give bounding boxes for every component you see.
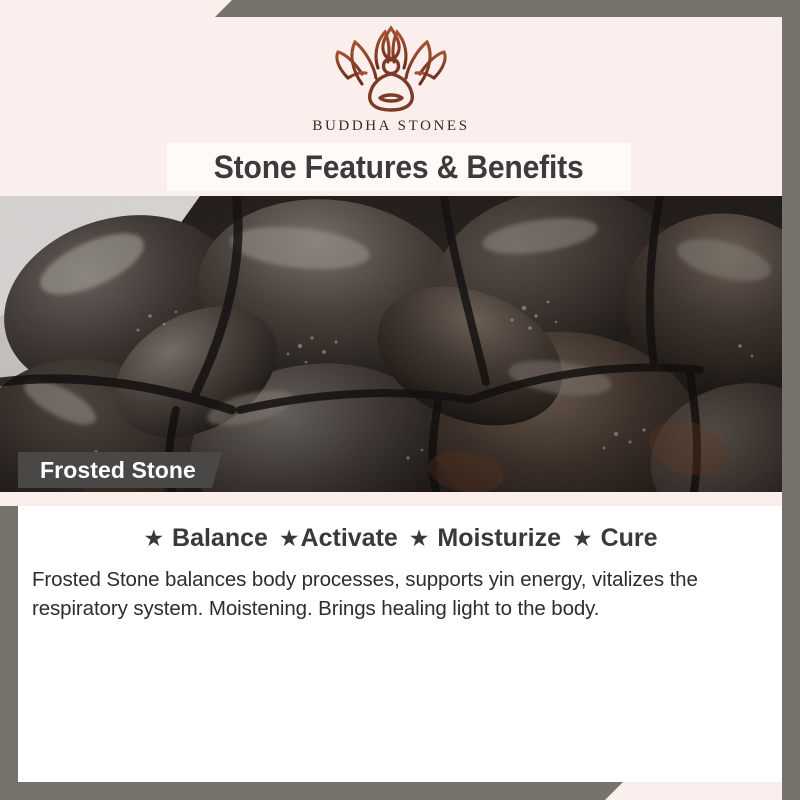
benefit-label: Balance (172, 524, 268, 552)
brand-header: BUDDHA STONES (0, 22, 782, 135)
brand-name: BUDDHA STONES (0, 118, 782, 135)
star-icon: ★ (279, 525, 300, 551)
star-icon: ★ (572, 525, 593, 551)
page-title: Stone Features & Benefits (214, 149, 584, 186)
product-infographic: BUDDHA STONES (0, 0, 800, 800)
page-title-banner: Stone Features & Benefits (167, 143, 631, 191)
benefit-label: Moisturize (437, 524, 561, 552)
frame-right-bar (782, 0, 800, 800)
benefit-item: ★ Balance (142, 524, 277, 552)
product-photo (0, 196, 782, 492)
lotus-meditation-icon (316, 22, 466, 114)
cream-divider (0, 492, 782, 506)
benefit-item: ★ Moisturize (408, 524, 571, 552)
content-section: ★ Balance★Activate★ Moisturize★ Cure Fro… (18, 492, 782, 623)
frame-top-bar (215, 0, 800, 17)
frame-left-bar (0, 490, 18, 800)
star-icon: ★ (409, 525, 430, 551)
product-description: Frosted Stone balances body processes, s… (32, 565, 768, 623)
benefit-item: ★Activate (278, 524, 408, 552)
benefit-label: Activate (301, 524, 398, 552)
product-name-badge: Frosted Stone (18, 452, 222, 488)
star-icon: ★ (143, 525, 164, 551)
benefit-item: ★ Cure (571, 524, 658, 552)
frosted-stone-image (0, 196, 782, 492)
cream-bottom-right-strip (605, 782, 782, 800)
frame-bottom-bar (0, 782, 623, 800)
product-name: Frosted Stone (40, 457, 196, 484)
benefits-list: ★ Balance★Activate★ Moisturize★ Cure (18, 524, 782, 553)
benefit-label: Cure (601, 524, 658, 552)
